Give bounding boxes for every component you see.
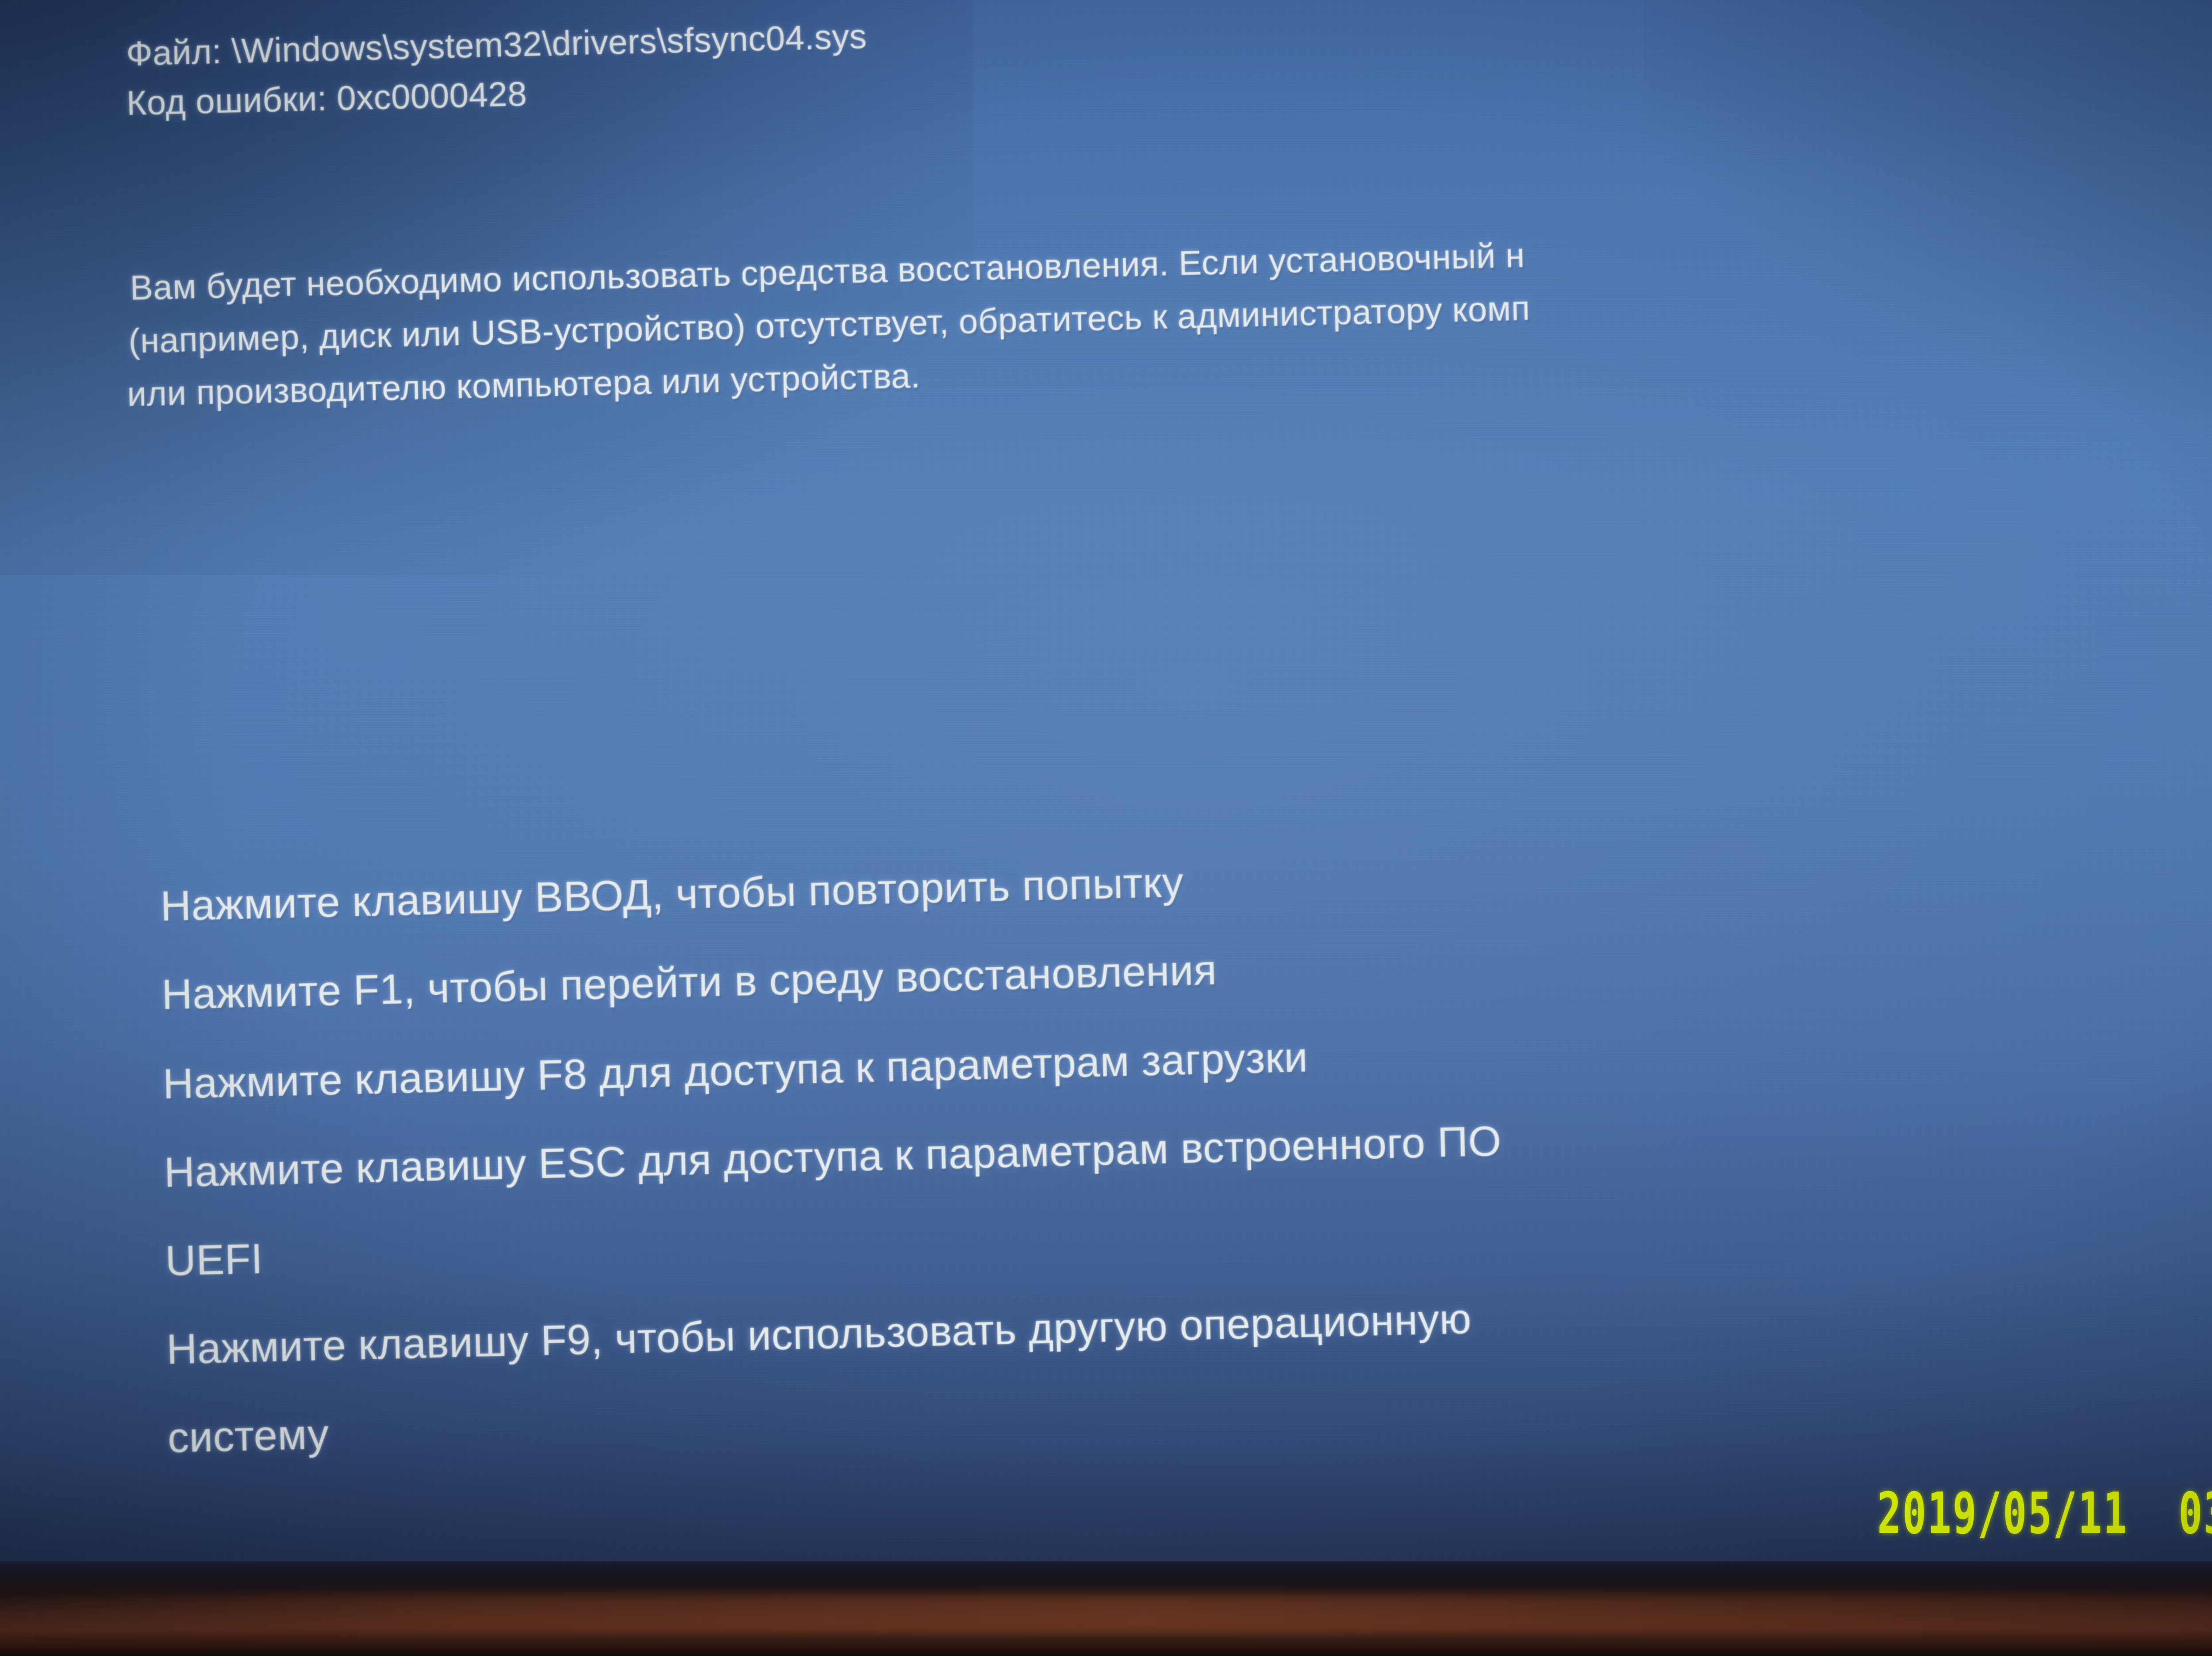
key-instruction-esc: Нажмите клавишу ESC для доступа к параме… [164,1117,1502,1197]
clipped-header-text: ошибк [1651,0,1746,0]
camera-timestamp-overlay: 2019/05/11 03:50:58 [1877,1481,2212,1547]
monitor-bottom-bezel [0,1561,2212,1656]
key-instruction-esc-wrap-uefi: UEFI [165,1234,263,1285]
key-instruction-f8: Нажмите клавишу F8 для доступа к парамет… [162,1033,1309,1109]
photo-frame: ошибк Файл: \Windows\system32\drivers\sf… [0,0,2212,1656]
key-instruction-f1: Нажмите F1, чтобы перейти в среду восста… [161,946,1217,1019]
error-file-path-line: Файл: \Windows\system32\drivers\sfsync04… [126,16,867,73]
bezel-light-sheen [0,1593,2212,1632]
recovery-paragraph-line-3: или производителю компьютера или устройс… [127,356,921,414]
boot-error-content: ошибк Файл: \Windows\system32\drivers\sf… [0,0,2212,1656]
key-instruction-f9: Нажмите клавишу F9, чтобы использовать д… [166,1295,1472,1374]
key-instruction-f9-wrap-sistemu: систему [167,1410,330,1463]
key-instruction-enter: Нажмите клавишу ВВОД, чтобы повторить по… [160,858,1184,931]
error-code-line: Код ошибки: 0xc0000428 [126,73,527,123]
